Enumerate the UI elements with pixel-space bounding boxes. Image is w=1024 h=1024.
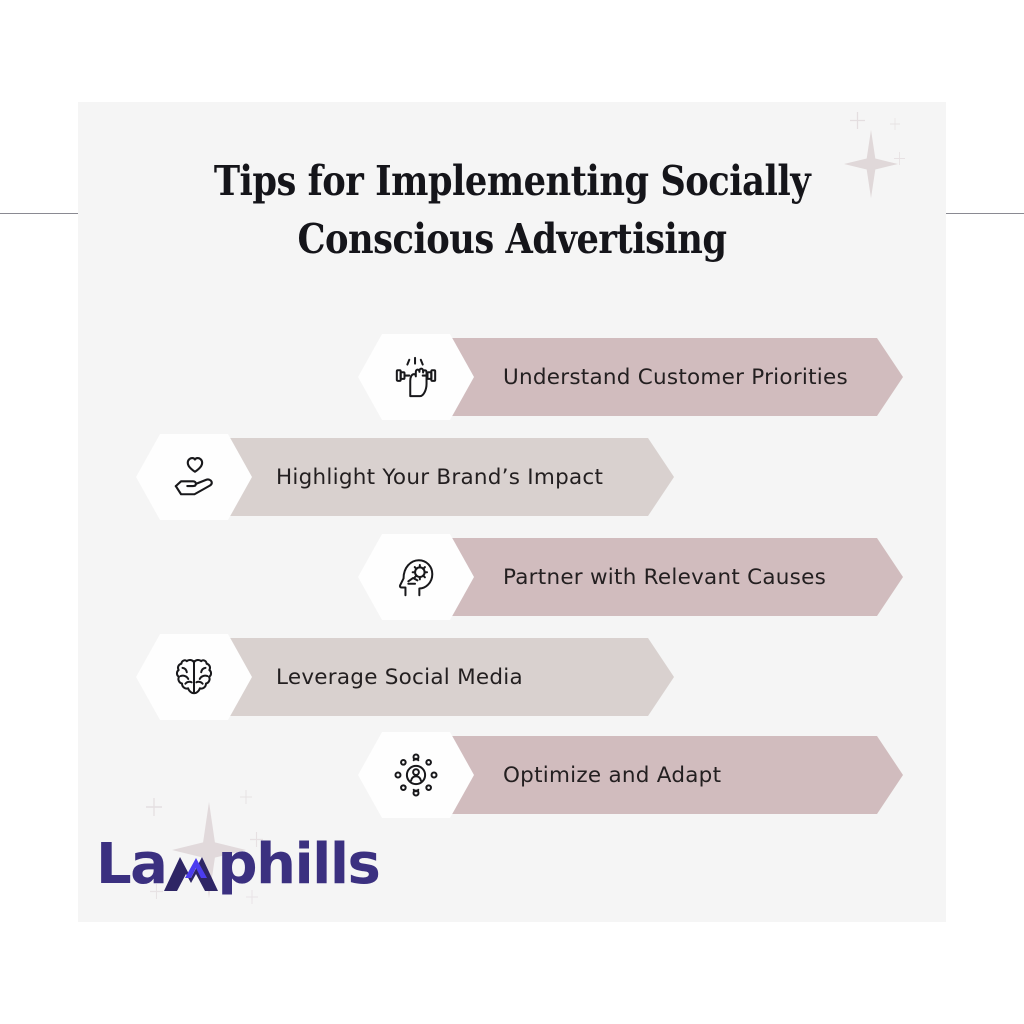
tip-icon-badge-2 xyxy=(136,434,252,520)
tip-row-4[interactable]: Leverage Social Media xyxy=(136,634,674,720)
tip-icon-badge-1 xyxy=(358,334,474,420)
brain-icon xyxy=(171,654,217,700)
brand-logo[interactable]: La phills xyxy=(96,837,379,893)
infographic-panel: Tips for Implementing Socially Conscious… xyxy=(78,102,946,922)
tip-icon-badge-4 xyxy=(136,634,252,720)
logo-text-after: phills xyxy=(217,837,379,893)
tip-icon-badge-5 xyxy=(358,732,474,818)
logo-text-before: La xyxy=(96,837,166,893)
hand-dumbbell-icon xyxy=(393,354,439,400)
hand-heart-icon xyxy=(171,454,217,500)
tip-row-5[interactable]: Optimize and Adapt xyxy=(358,732,903,818)
mountain-m-icon xyxy=(163,850,219,892)
tip-icon-badge-3 xyxy=(358,534,474,620)
tip-row-3[interactable]: Partner with Relevant Causes xyxy=(358,534,903,620)
tip-label-5: Optimize and Adapt xyxy=(503,732,721,818)
user-network-icon xyxy=(393,752,439,798)
head-gear-idea-icon xyxy=(393,554,439,600)
tip-row-2[interactable]: Highlight Your Brand’s Impact xyxy=(136,434,674,520)
tip-label-2: Highlight Your Brand’s Impact xyxy=(276,434,603,520)
page-title-line-2: Conscious Advertising xyxy=(139,210,885,268)
page-title: Tips for Implementing Socially Conscious… xyxy=(139,152,885,268)
page-title-line-1: Tips for Implementing Socially xyxy=(214,157,810,205)
tip-row-1[interactable]: Understand Customer Priorities xyxy=(358,334,903,420)
tip-label-4: Leverage Social Media xyxy=(276,634,523,720)
tip-label-3: Partner with Relevant Causes xyxy=(503,534,826,620)
tip-label-1: Understand Customer Priorities xyxy=(503,334,848,420)
